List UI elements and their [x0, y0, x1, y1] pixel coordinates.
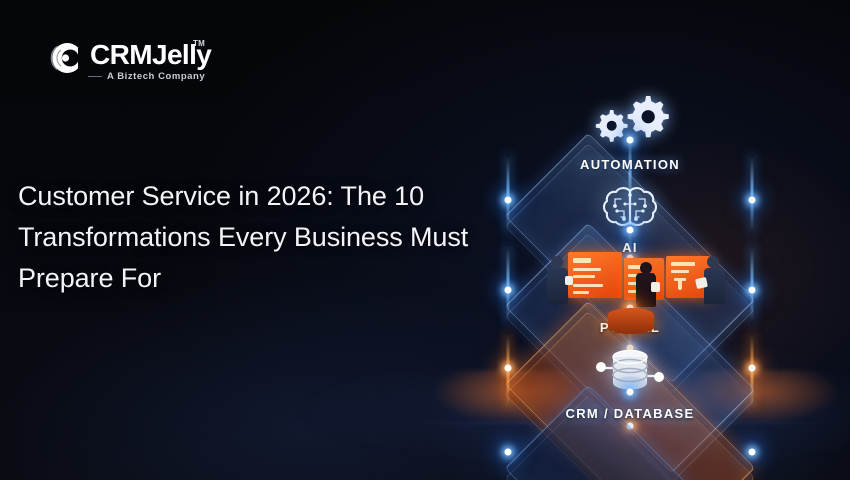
brand-tagline: A Biztech Company: [107, 71, 205, 82]
tagline-divider: [88, 76, 102, 77]
crm-jelly-c-mark-icon: [48, 40, 84, 76]
trademark-symbol: TM: [193, 39, 205, 48]
technology-stack-illustration: AUTOMATION: [430, 72, 830, 472]
database-nodes-icon: [430, 344, 830, 405]
node-crm-back: [627, 389, 634, 396]
banner-stage: CRMJelly TM A Biztech Company Customer S…: [0, 0, 850, 480]
node-crm-left: [505, 449, 512, 456]
layer-label-crm-database: CRM / DATABASE: [500, 406, 760, 421]
node-crm-right: [749, 449, 756, 456]
layer-crm-database[interactable]: CRM / DATABASE: [430, 72, 830, 472]
brand-logo[interactable]: CRMJelly TM A Biztech Company: [48, 36, 228, 88]
